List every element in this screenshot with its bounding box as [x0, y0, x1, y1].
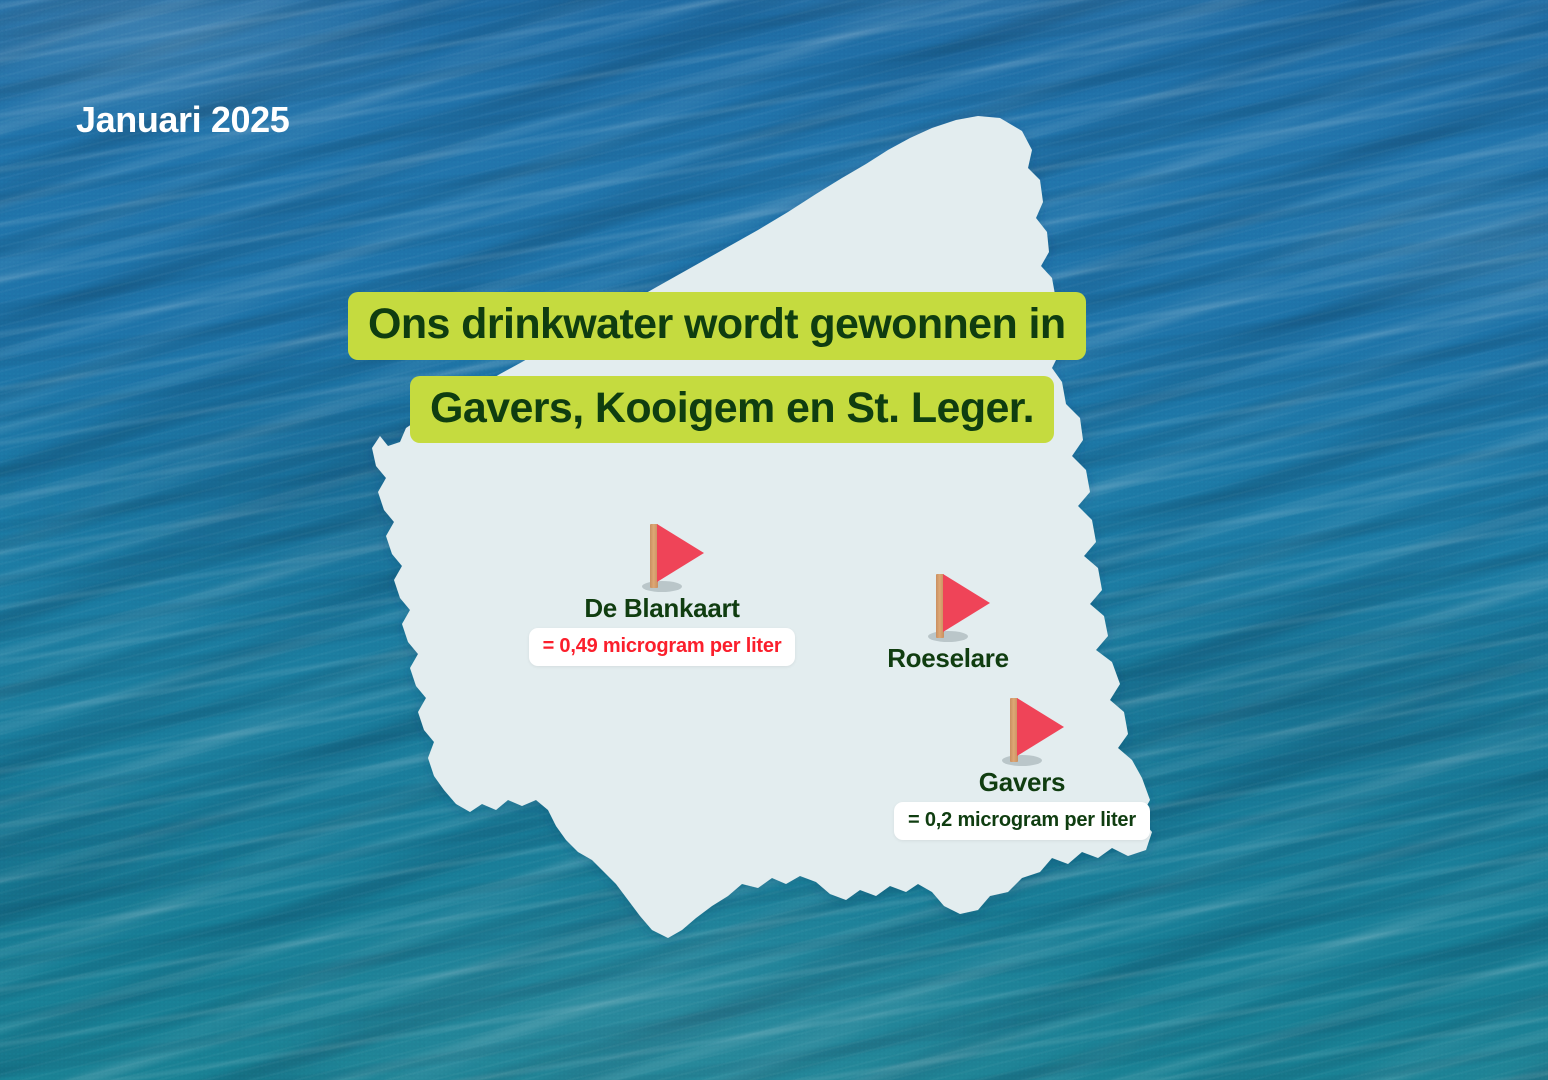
marker-roeselare[interactable]: Roeselare	[848, 572, 1048, 673]
red-flag-icon	[916, 572, 980, 642]
flag-cloth	[657, 524, 704, 582]
infographic-stage: Januari 2025 Ons drinkwater wordt gewonn…	[0, 0, 1548, 1080]
flag-base-shadow	[928, 631, 968, 642]
headline-row-2: Gavers, Kooigem en St. Leger.	[0, 376, 1548, 444]
marker-value-de-blankaart: = 0,49 microgram per liter	[529, 628, 796, 666]
marker-label-roeselare: Roeselare	[887, 644, 1009, 673]
headline-bar-line1: Ons drinkwater wordt gewonnen in	[348, 292, 1086, 360]
marker-label-de-blankaart: De Blankaart	[584, 594, 739, 623]
marker-value-gavers: = 0,2 microgram per liter	[894, 802, 1150, 840]
red-flag-icon	[630, 522, 694, 592]
headline-row-1: Ons drinkwater wordt gewonnen in	[0, 292, 1548, 360]
marker-label-gavers: Gavers	[979, 768, 1065, 797]
flag-base-shadow	[642, 581, 682, 592]
marker-gavers[interactable]: Gavers = 0,2 microgram per liter	[888, 696, 1156, 840]
flag-cloth	[943, 574, 990, 632]
flag-base-shadow	[1002, 755, 1042, 766]
marker-de-blankaart[interactable]: De Blankaart = 0,49 microgram per liter	[512, 522, 812, 666]
date-label: Januari 2025	[76, 99, 289, 141]
red-flag-icon	[990, 696, 1054, 766]
headline-group: Ons drinkwater wordt gewonnen in Gavers,…	[0, 292, 1548, 443]
headline-bar-line2: Gavers, Kooigem en St. Leger.	[410, 376, 1054, 444]
flag-cloth	[1017, 698, 1064, 756]
